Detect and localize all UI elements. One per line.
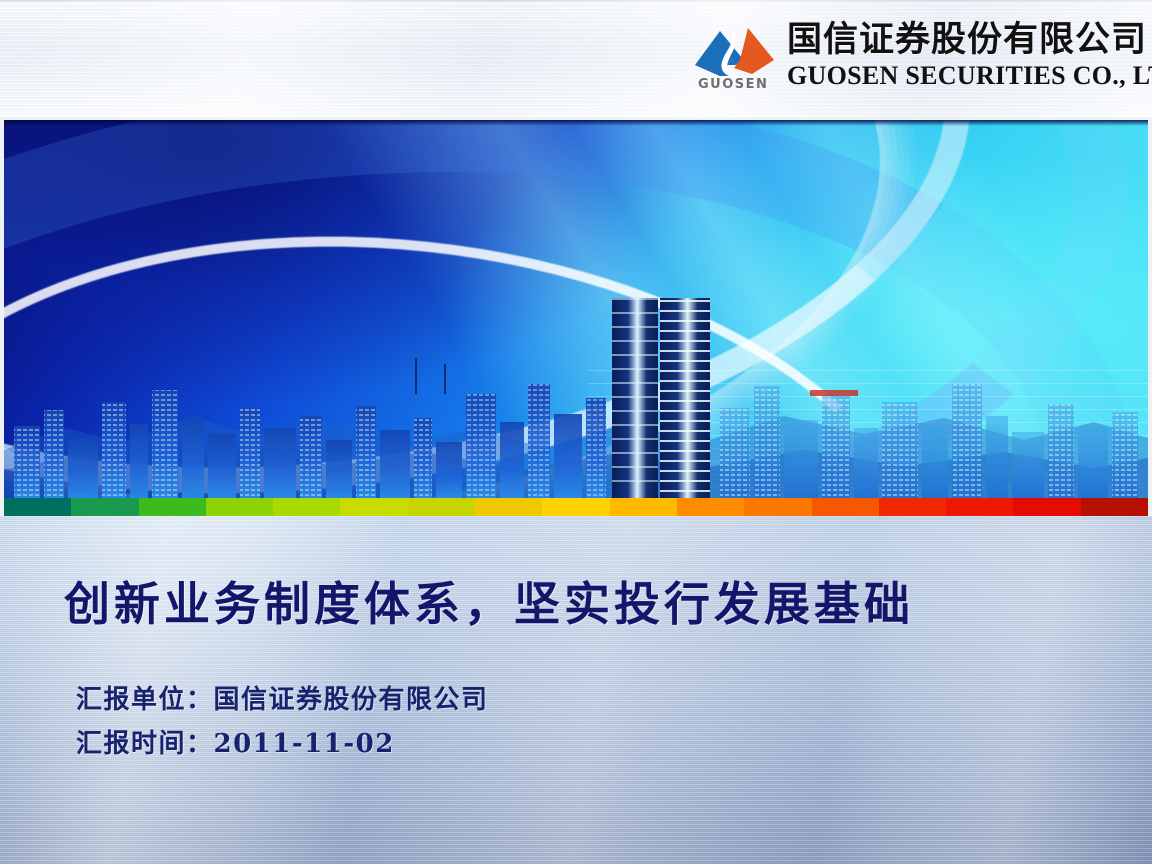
subtitle-reporting-unit: 汇报单位：国信证券股份有限公司 <box>76 678 489 722</box>
colorbar-segment-3 <box>206 498 273 516</box>
colorbar-segment-2 <box>139 498 206 516</box>
colorbar-segment-9 <box>610 498 677 516</box>
company-logo-block: GUOSEN 国信证券股份有限公司 GUOSEN SECURITIES CO.,… <box>690 18 1152 104</box>
header-top-edge <box>0 0 1152 3</box>
colorbar-segment-13 <box>879 498 946 516</box>
colorbar-segment-10 <box>677 498 744 516</box>
colorbar-segment-16 <box>1081 498 1148 516</box>
colorbar-segment-11 <box>744 498 811 516</box>
logo-wordmark-text: GUOSEN <box>698 77 768 92</box>
banner-top-shadow <box>4 120 1148 126</box>
slide-header-bar: GUOSEN 国信证券股份有限公司 GUOSEN SECURITIES CO.,… <box>0 0 1152 118</box>
banner-city-silhouette <box>4 298 1148 498</box>
guosen-mountain-logo-icon: GUOSEN <box>690 18 778 94</box>
colorbar-segment-1 <box>71 498 138 516</box>
slide-subtitle-group: 汇报单位：国信证券股份有限公司 汇报时间：2011-11-02 <box>76 678 489 766</box>
subtitle-reporting-date: 汇报时间：2011-11-02 <box>76 722 489 766</box>
company-name-group: 国信证券股份有限公司 GUOSEN SECURITIES CO., LTD. <box>787 18 1152 91</box>
colorbar-segment-14 <box>946 498 1013 516</box>
colorbar-segment-5 <box>340 498 407 516</box>
colorbar-segment-7 <box>475 498 542 516</box>
city-skyline-banner-image <box>4 120 1148 498</box>
slide-title: 创新业务制度体系，坚实投行发展基础 <box>64 568 914 634</box>
presentation-title-slide: GUOSEN 国信证券股份有限公司 GUOSEN SECURITIES CO.,… <box>0 0 1152 864</box>
colorbar-segment-15 <box>1013 498 1080 516</box>
colorbar-segment-0 <box>4 498 71 516</box>
colorbar-segment-12 <box>812 498 879 516</box>
tower-antenna-left <box>415 358 417 394</box>
tower-antenna-right <box>444 364 446 394</box>
company-name-chinese: 国信证券股份有限公司 <box>787 20 1152 60</box>
rainbow-accent-bar <box>4 498 1148 516</box>
colorbar-segment-8 <box>542 498 609 516</box>
colorbar-segment-6 <box>408 498 475 516</box>
colorbar-segment-4 <box>273 498 340 516</box>
company-name-english: GUOSEN SECURITIES CO., LTD. <box>787 61 1152 91</box>
landmark-twin-tower <box>612 298 714 498</box>
